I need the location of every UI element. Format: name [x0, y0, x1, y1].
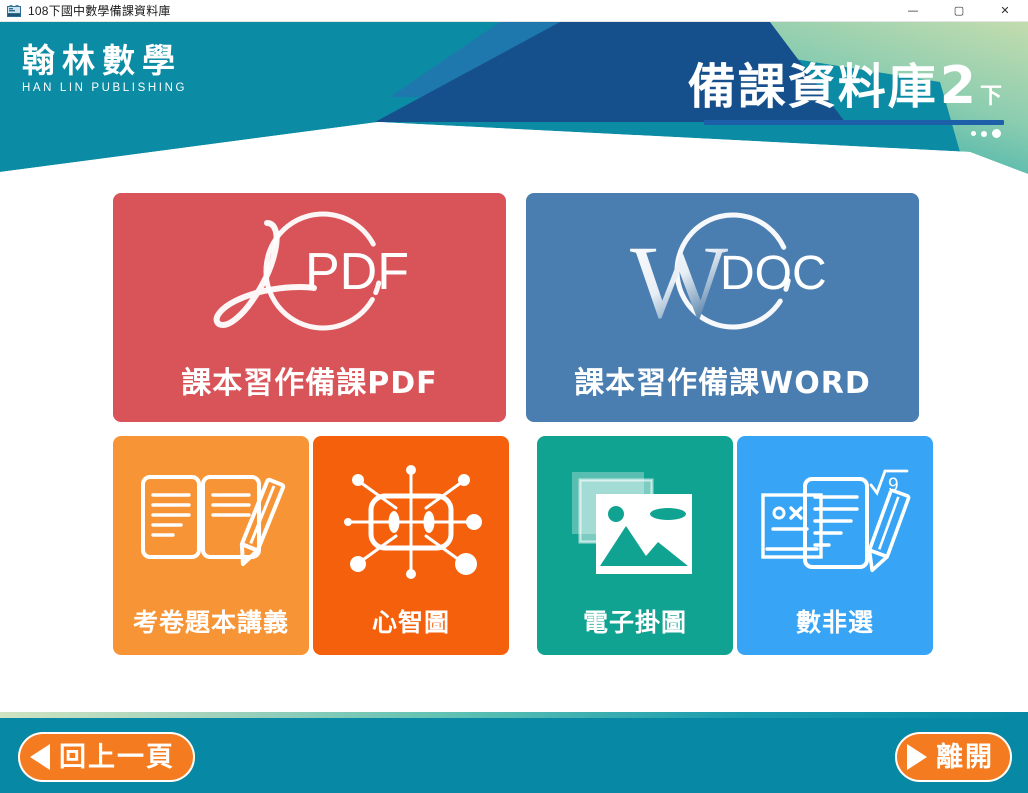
card-row-top: PDF 課本習作備課PDF: [113, 193, 919, 422]
page-title-underline: [704, 120, 1004, 125]
minimize-icon: —: [908, 5, 919, 16]
title-dot-small: [971, 131, 976, 136]
images-stack-icon: [537, 436, 733, 603]
back-button[interactable]: 回上一頁: [18, 732, 195, 782]
title-dot-large: [992, 129, 1001, 138]
card-exam[interactable]: 考卷題本講義: [113, 436, 309, 655]
svg-text:W: W: [630, 225, 728, 340]
mind-map-icon: [313, 436, 509, 603]
title-dot-medium: [981, 131, 987, 137]
paper-pencil-sqrt-icon: 9: [737, 436, 933, 603]
book-pencil-icon: [113, 436, 309, 603]
card-mindmap[interactable]: 心智圖: [313, 436, 509, 655]
title-bar: 108下國中數學備課資料庫 — ▢ ✕: [0, 0, 1028, 22]
app-icon: [6, 3, 22, 19]
maximize-button[interactable]: ▢: [936, 0, 982, 22]
svg-text:PDF: PDF: [305, 243, 409, 301]
minimize-button[interactable]: —: [890, 0, 936, 22]
card-word-label: 課本習作備課WORD: [526, 358, 919, 422]
maximize-icon: ▢: [954, 5, 964, 16]
window-title: 108下國中數學備課資料庫: [28, 0, 171, 22]
exit-button[interactable]: 離開: [895, 732, 1012, 782]
triangle-right-icon: [907, 744, 927, 770]
page-title-main: 備課資料庫: [688, 63, 938, 111]
card-row-bottom: 考卷題本講義: [113, 436, 933, 655]
back-button-label: 回上一頁: [59, 744, 175, 771]
page-title-number: 2: [940, 60, 978, 112]
row-gap: [513, 436, 533, 655]
close-icon: ✕: [1000, 5, 1009, 16]
main-content: PDF 課本習作備課PDF: [0, 192, 1028, 712]
svg-text:DOC: DOC: [720, 247, 827, 300]
page-title-text: 備課資料庫 2 下: [688, 60, 1004, 112]
card-nonchoice-label: 數非選: [737, 603, 933, 655]
header-banner: 翰林數學 HAN LIN PUBLISHING 備課資料庫 2 下: [0, 22, 1028, 192]
pdf-icon: PDF: [113, 193, 506, 358]
application-window: 108下國中數學備課資料庫 — ▢ ✕: [0, 0, 1028, 793]
page-title-term: 下: [980, 86, 1004, 108]
page-title: 備課資料庫 2 下: [688, 60, 1004, 125]
page-title-dots: [971, 129, 1001, 138]
card-exam-label: 考卷題本講義: [113, 603, 309, 655]
footer-gradient-strip: [0, 712, 1028, 718]
card-wallchart-label: 電子掛圖: [537, 603, 733, 655]
triangle-left-icon: [30, 744, 50, 770]
close-button[interactable]: ✕: [982, 0, 1028, 22]
exit-button-label: 離開: [936, 744, 994, 771]
card-wallchart[interactable]: 電子掛圖: [537, 436, 733, 655]
card-nonchoice[interactable]: 9 數非選: [737, 436, 933, 655]
word-icon: W DOC: [526, 193, 919, 358]
card-word[interactable]: W DOC 課本習作備課WORD: [526, 193, 919, 422]
card-mindmap-label: 心智圖: [313, 603, 509, 655]
card-pdf-label: 課本習作備課PDF: [113, 358, 506, 422]
card-pdf[interactable]: PDF 課本習作備課PDF: [113, 193, 506, 422]
